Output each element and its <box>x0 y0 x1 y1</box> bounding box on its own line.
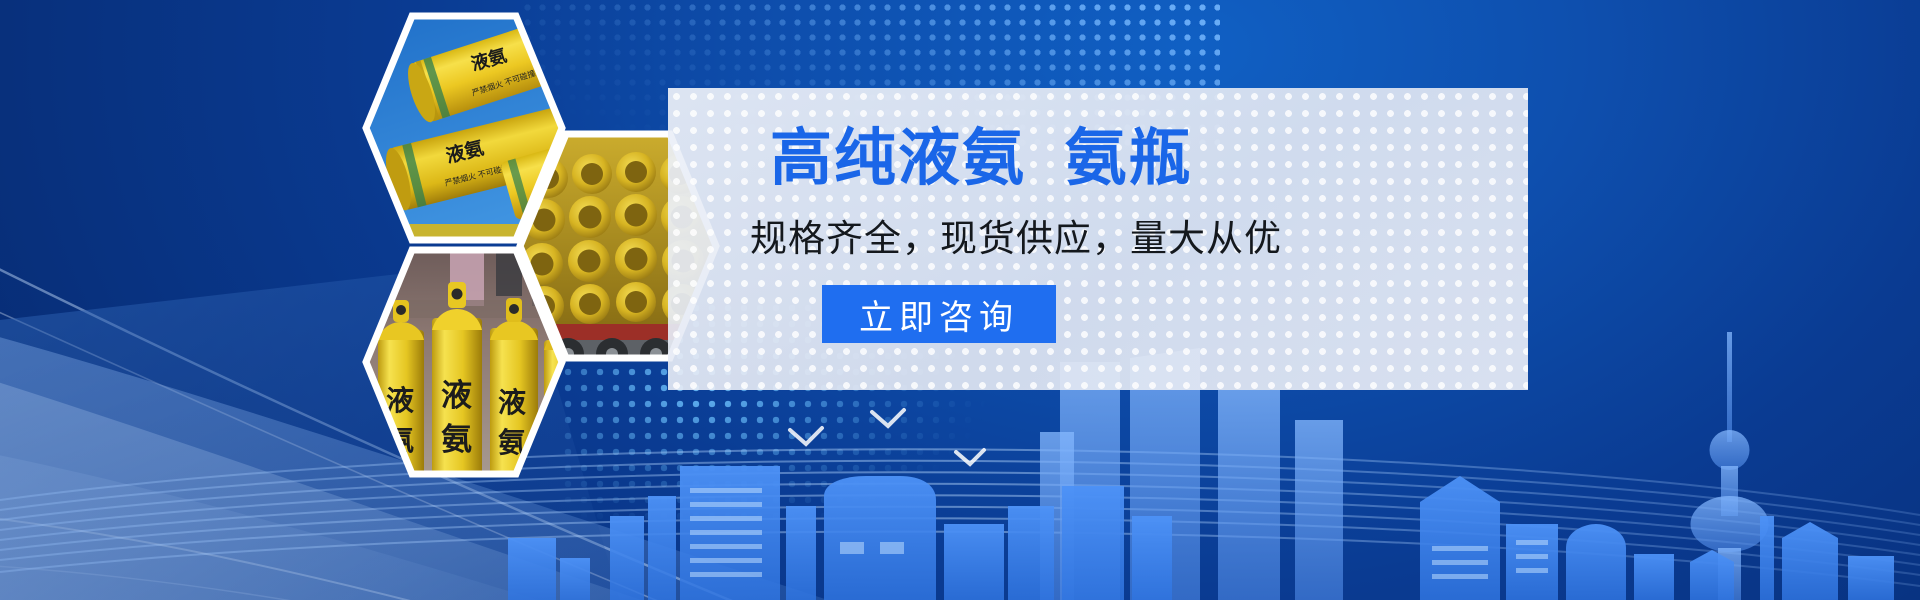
consult-now-button[interactable]: 立即咨询 <box>822 285 1056 343</box>
oriental-pearl-tower <box>1691 332 1769 600</box>
svg-text:液: 液 <box>498 387 526 418</box>
subtitle: 规格齐全，现货供应，量大从优 <box>750 220 1282 257</box>
svg-text:液: 液 <box>386 385 414 416</box>
flying-birds <box>780 400 1040 490</box>
svg-text:氨: 氨 <box>441 422 472 457</box>
svg-text:液: 液 <box>441 378 472 413</box>
promo-banner: 液氨 严禁烟火 不可碰撞 液氨 严禁烟火 不可碰撞 <box>0 0 1920 600</box>
content-panel: 高纯液氨 氨瓶 规格齐全，现货供应，量大从优 立即咨询 <box>668 88 1528 390</box>
page-title: 高纯液氨 氨瓶 <box>770 128 1192 190</box>
